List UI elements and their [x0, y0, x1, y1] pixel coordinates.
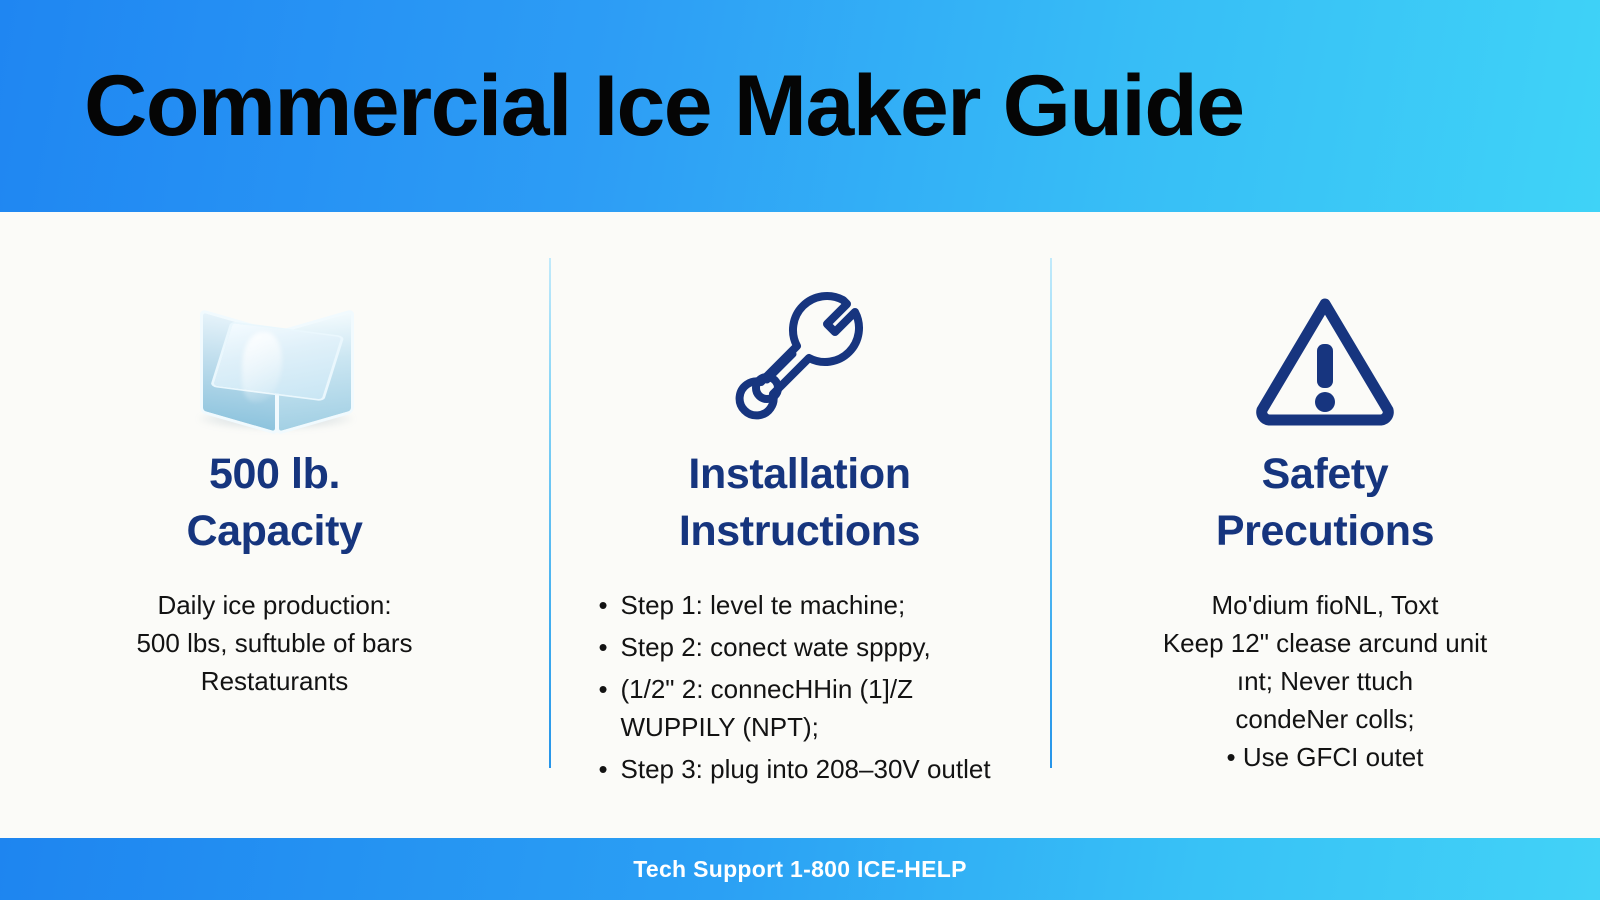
column-safety: Safety Precutions Mo'dium fioNL, Toxt Ke… — [1050, 260, 1600, 838]
heading-line-2: Precutions — [1216, 503, 1434, 560]
wrench-icon — [735, 288, 865, 428]
ice-cube-icon-slot — [182, 260, 368, 428]
list-item: Step 2: conect wate spppy, — [595, 628, 1005, 666]
heading-line-1: 500 lb. — [186, 446, 362, 503]
body-line: Restaturants — [136, 662, 412, 700]
column-installation: Installation Instructions Step 1: level … — [549, 260, 1050, 838]
footer-bar: Tech Support 1-800 ICE-HELP — [0, 838, 1600, 900]
body-line: Mo'dium fioNL, Toxt — [1163, 586, 1487, 624]
column-heading-installation: Installation Instructions — [679, 446, 920, 560]
column-heading-safety: Safety Precutions — [1216, 446, 1434, 560]
body-line: condeNer colls; — [1163, 700, 1487, 738]
heading-line-1: Installation — [679, 446, 920, 503]
warning-triangle-icon — [1250, 288, 1400, 428]
heading-line-2: Capacity — [186, 503, 362, 560]
list-item: (1/2" 2: connecHHin (1]/Z WUPPILY (NPT); — [595, 670, 1005, 746]
tech-support-text: Tech Support 1-800 ICE-HELP — [633, 856, 967, 883]
list-item: Step 1: level te machine; — [595, 586, 1005, 624]
column-capacity: 500 lb. Capacity Daily ice production: 5… — [0, 260, 549, 838]
body-line: Daily ice production: — [136, 586, 412, 624]
page-title: Commercial Ice Maker Guide — [84, 63, 1244, 149]
body-line: ınt; Never ttuch — [1163, 662, 1487, 700]
heading-line-1: Safety — [1216, 446, 1434, 503]
body-line: 500 lbs, suftuble of bars — [136, 624, 412, 662]
body-line: Keep 12" clease arcund unit — [1163, 624, 1487, 662]
header-bar: Commercial Ice Maker Guide — [0, 0, 1600, 212]
column-heading-capacity: 500 lb. Capacity — [186, 446, 362, 560]
heading-line-2: Instructions — [679, 503, 920, 560]
content-columns: 500 lb. Capacity Daily ice production: 5… — [0, 212, 1600, 838]
warning-triangle-icon-slot — [1250, 260, 1400, 428]
column-body-capacity: Daily ice production: 500 lbs, suftuble … — [136, 586, 412, 701]
list-item: Step 3: plug into 208–30V outlet — [595, 750, 1005, 788]
infographic-poster: Commercial Ice Maker Guide 500 lb. Capac… — [0, 0, 1600, 900]
column-body-safety: Mo'dium fioNL, Toxt Keep 12" clease arcu… — [1163, 586, 1487, 777]
column-body-installation: Step 1: level te machine; Step 2: conect… — [595, 586, 1005, 793]
ice-cube-icon — [182, 268, 368, 428]
list-item: Use GFCI outet — [1163, 738, 1487, 776]
wrench-icon-slot — [735, 260, 865, 428]
